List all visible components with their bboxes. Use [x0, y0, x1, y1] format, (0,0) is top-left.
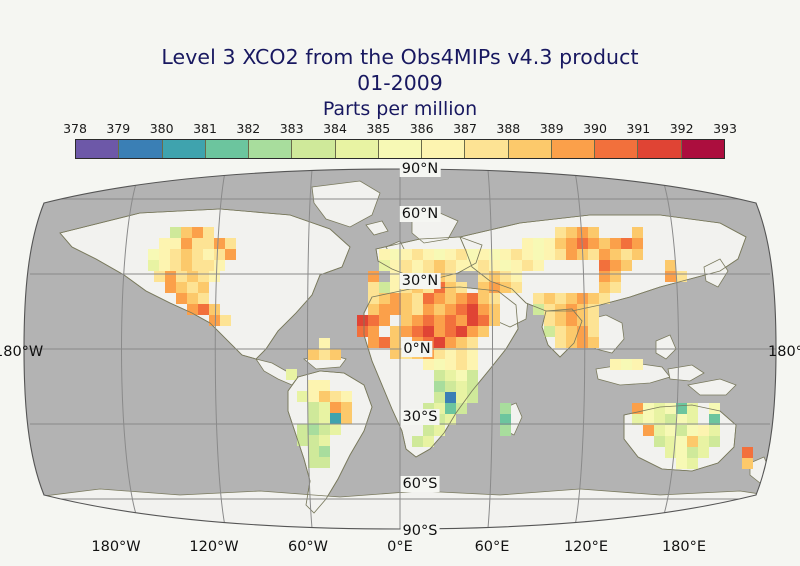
colorbar-tick-378: 378 — [63, 121, 87, 136]
title-block: Level 3 XCO2 from the Obs4MIPs v4.3 prod… — [0, 44, 800, 121]
colorbar-tick-389: 389 — [540, 121, 564, 136]
colorbar-tick-388: 388 — [496, 121, 520, 136]
title-date: 01-2009 — [0, 70, 800, 96]
colorbar-tick-392: 392 — [670, 121, 694, 136]
colorbar: 3783793803813823833843853863873883893903… — [75, 139, 725, 159]
colorbar-tick-393: 393 — [713, 121, 737, 136]
colorbar-bin-382 — [249, 140, 292, 158]
lon-tick-180w: 180°W — [89, 539, 142, 555]
lat-tick-30s: 30°S — [401, 409, 440, 425]
title-units: Parts per million — [0, 97, 800, 121]
colorbar-tick-390: 390 — [583, 121, 607, 136]
lon-tick-120e: 120°E — [562, 539, 610, 555]
colorbar-tick-387: 387 — [453, 121, 477, 136]
colorbar-tick-383: 383 — [280, 121, 304, 136]
colorbar-bin-383 — [292, 140, 335, 158]
lon-tick-60e: 60°E — [473, 539, 512, 555]
colorbar-bin-384 — [336, 140, 379, 158]
lat-tick-60s: 60°S — [401, 476, 440, 492]
colorbar-bin-386 — [422, 140, 465, 158]
lat-tick-90n: 90°N — [400, 161, 441, 177]
colorbar-tick-379: 379 — [106, 121, 130, 136]
figure-canvas: Level 3 XCO2 from the Obs4MIPs v4.3 prod… — [0, 0, 800, 566]
colorbar-bin-385 — [379, 140, 422, 158]
edge-label-right: 180°E — [768, 344, 800, 360]
colorbar-bin-391 — [638, 140, 681, 158]
map-panel: 90°N 60°N 30°N 0°N 30°S 60°S 90°S 180°W … — [20, 163, 780, 535]
colorbar-tick-391: 391 — [626, 121, 650, 136]
page-title: Level 3 XCO2 from the Obs4MIPs v4.3 prod… — [0, 44, 800, 70]
lat-tick-90s: 90°S — [401, 523, 440, 539]
colorbar-tick-381: 381 — [193, 121, 217, 136]
colorbar-tick-382: 382 — [236, 121, 260, 136]
colorbar-tick-386: 386 — [410, 121, 434, 136]
edge-label-left: 180°W — [0, 344, 43, 360]
lat-tick-30n: 30°N — [400, 273, 441, 289]
colorbar-tick-384: 384 — [323, 121, 347, 136]
lat-tick-60n: 60°N — [400, 206, 441, 222]
colorbar-tick-labels: 3783793803813823833843853863873883893903… — [75, 121, 725, 137]
lon-tick-0: 0°E — [385, 539, 415, 555]
colorbar-bin-390 — [595, 140, 638, 158]
lat-tick-0: 0°N — [401, 341, 432, 357]
colorbar-bin-379 — [119, 140, 162, 158]
colorbar-bin-380 — [163, 140, 206, 158]
lon-tick-60w: 60°W — [286, 539, 330, 555]
colorbar-bin-389 — [552, 140, 595, 158]
colorbar-tick-380: 380 — [150, 121, 174, 136]
colorbar-gradient — [75, 139, 725, 159]
colorbar-bin-388 — [509, 140, 552, 158]
colorbar-bin-392 — [682, 140, 724, 158]
lon-tick-180e: 180°E — [660, 539, 708, 555]
colorbar-tick-385: 385 — [366, 121, 390, 136]
colorbar-bin-387 — [465, 140, 508, 158]
colorbar-bin-381 — [206, 140, 249, 158]
lon-tick-120w: 120°W — [187, 539, 240, 555]
colorbar-bin-378 — [76, 140, 119, 158]
